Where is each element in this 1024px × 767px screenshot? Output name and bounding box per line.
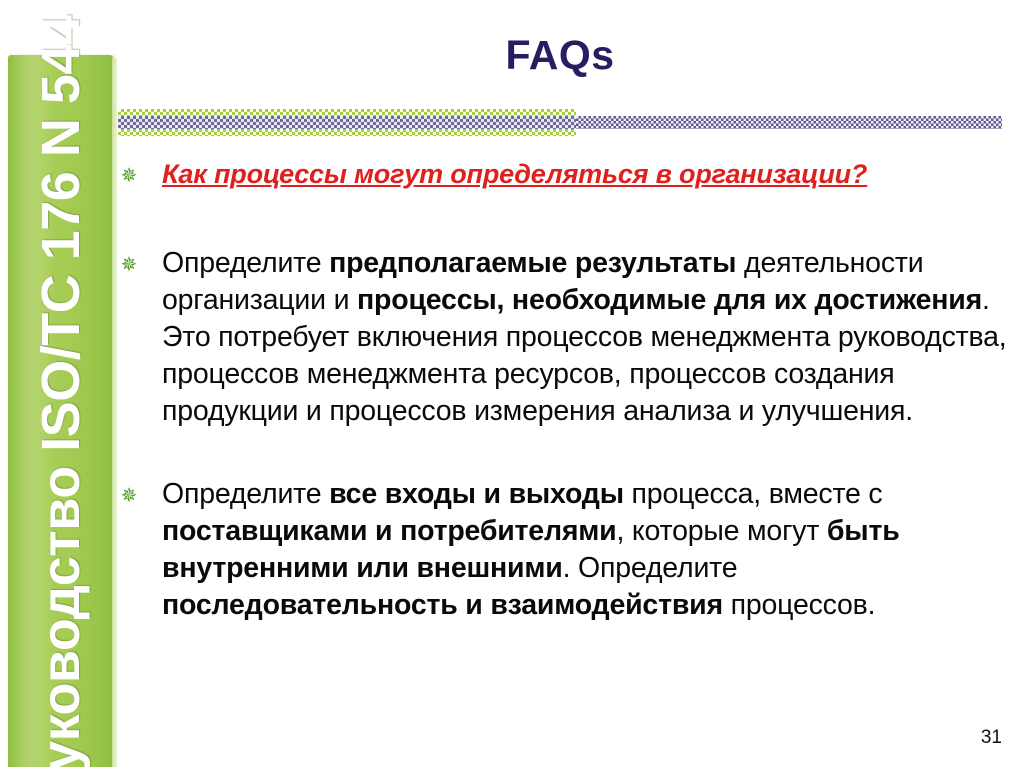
divider-purple-right-band [576,116,1002,129]
run-bold: все входы и выходы [329,478,624,510]
sidebar-vertical-title: Руководство ISO/TC 176 N 544 [8,55,113,767]
spacer-2 [118,430,1008,476]
sidebar-banner: Руководство ISO/TC 176 N 544 [8,55,113,767]
run: , которые могут [617,515,827,547]
flower-bullet-icon: ✵ [118,166,140,186]
run: Определите [162,478,329,510]
sidebar-edge-stripe [112,58,117,767]
run: . Определите [563,552,738,584]
bullet-item-1: ✵ Определите предполагаемые результаты д… [118,245,1008,430]
slide-body: ✵ Как процессы могут определяться в орга… [118,158,1008,624]
run: процессов. [723,589,875,621]
run: процесса, вместе с [624,478,883,510]
divider-green-bottom-band [118,129,576,136]
bullet-item-2: ✵ Определите все входы и выходы процесса… [118,476,1008,624]
run-bold: последовательность и взаимодействия [162,589,723,621]
divider-green-top-band [118,109,576,116]
presentation-slide: Руководство ISO/TC 176 N 544 FAQs ✵ Как … [0,0,1024,767]
bullet-1-text: Определите предполагаемые результаты дея… [162,245,1008,430]
run-bold: предполагаемые результаты [329,247,736,279]
run-bold: поставщиками и потребителями [162,515,617,547]
bullet-question-text: Как процессы могут определяться в органи… [162,158,1008,191]
decorative-divider [118,108,1002,138]
spacer-1 [118,191,1008,245]
flower-bullet-icon: ✵ [118,255,140,275]
bullet-item-question: ✵ Как процессы могут определяться в орга… [118,158,1008,191]
page-title: FAQs [120,32,1000,79]
run-bold: процессы, необходимые для их достижения [357,284,982,316]
question-run: Как процессы могут определяться в органи… [162,159,867,189]
run: Определите [162,247,329,279]
flower-bullet-icon: ✵ [118,486,140,506]
bullet-2-text: Определите все входы и выходы процесса, … [162,476,1008,624]
page-number: 31 [981,727,1002,749]
divider-purple-left-band [118,116,576,129]
